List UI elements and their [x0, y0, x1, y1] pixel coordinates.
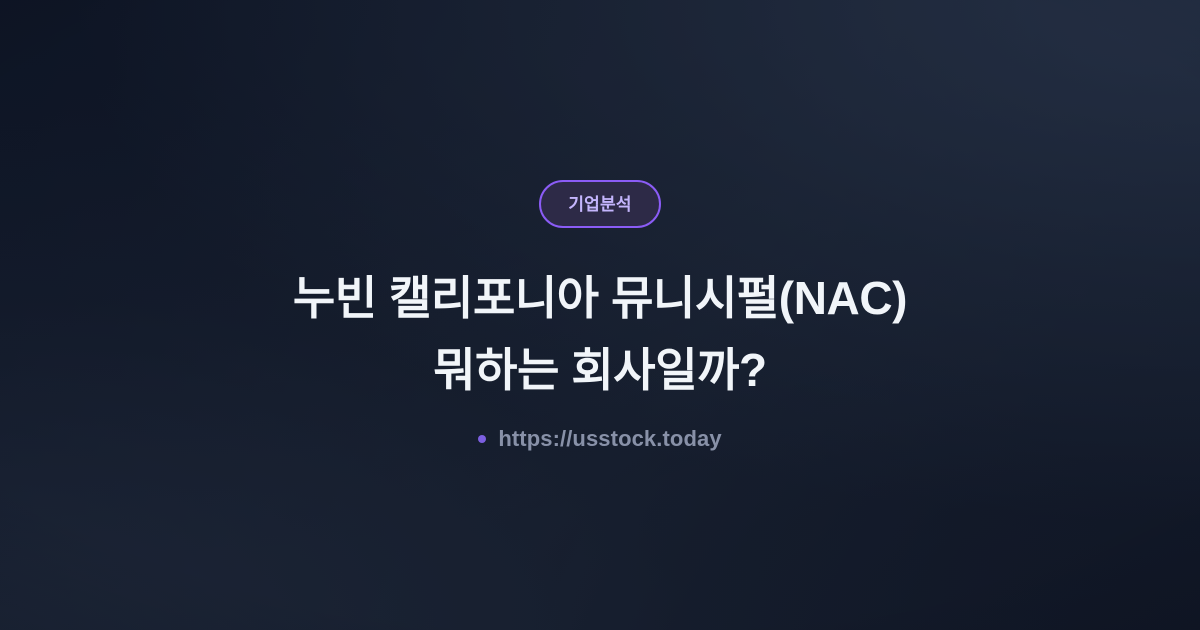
social-share-card: 기업분석 누빈 캘리포니아 뮤니시펄(NAC) 뭐하는 회사일까? https:…	[0, 0, 1200, 630]
category-badge: 기업분석	[539, 180, 660, 228]
card-content: 기업분석 누빈 캘리포니아 뮤니시펄(NAC) 뭐하는 회사일까? https:…	[0, 180, 1200, 450]
page-title-line-1: 누빈 캘리포니아 뮤니시펄(NAC)	[293, 262, 907, 334]
page-title-line-2: 뭐하는 회사일까?	[293, 334, 907, 406]
page-title: 누빈 캘리포니아 뮤니시펄(NAC) 뭐하는 회사일까?	[293, 262, 907, 406]
bullet-dot-icon	[478, 435, 486, 443]
site-url-row: https://usstock.today	[478, 428, 721, 450]
site-url-label: https://usstock.today	[498, 428, 721, 450]
